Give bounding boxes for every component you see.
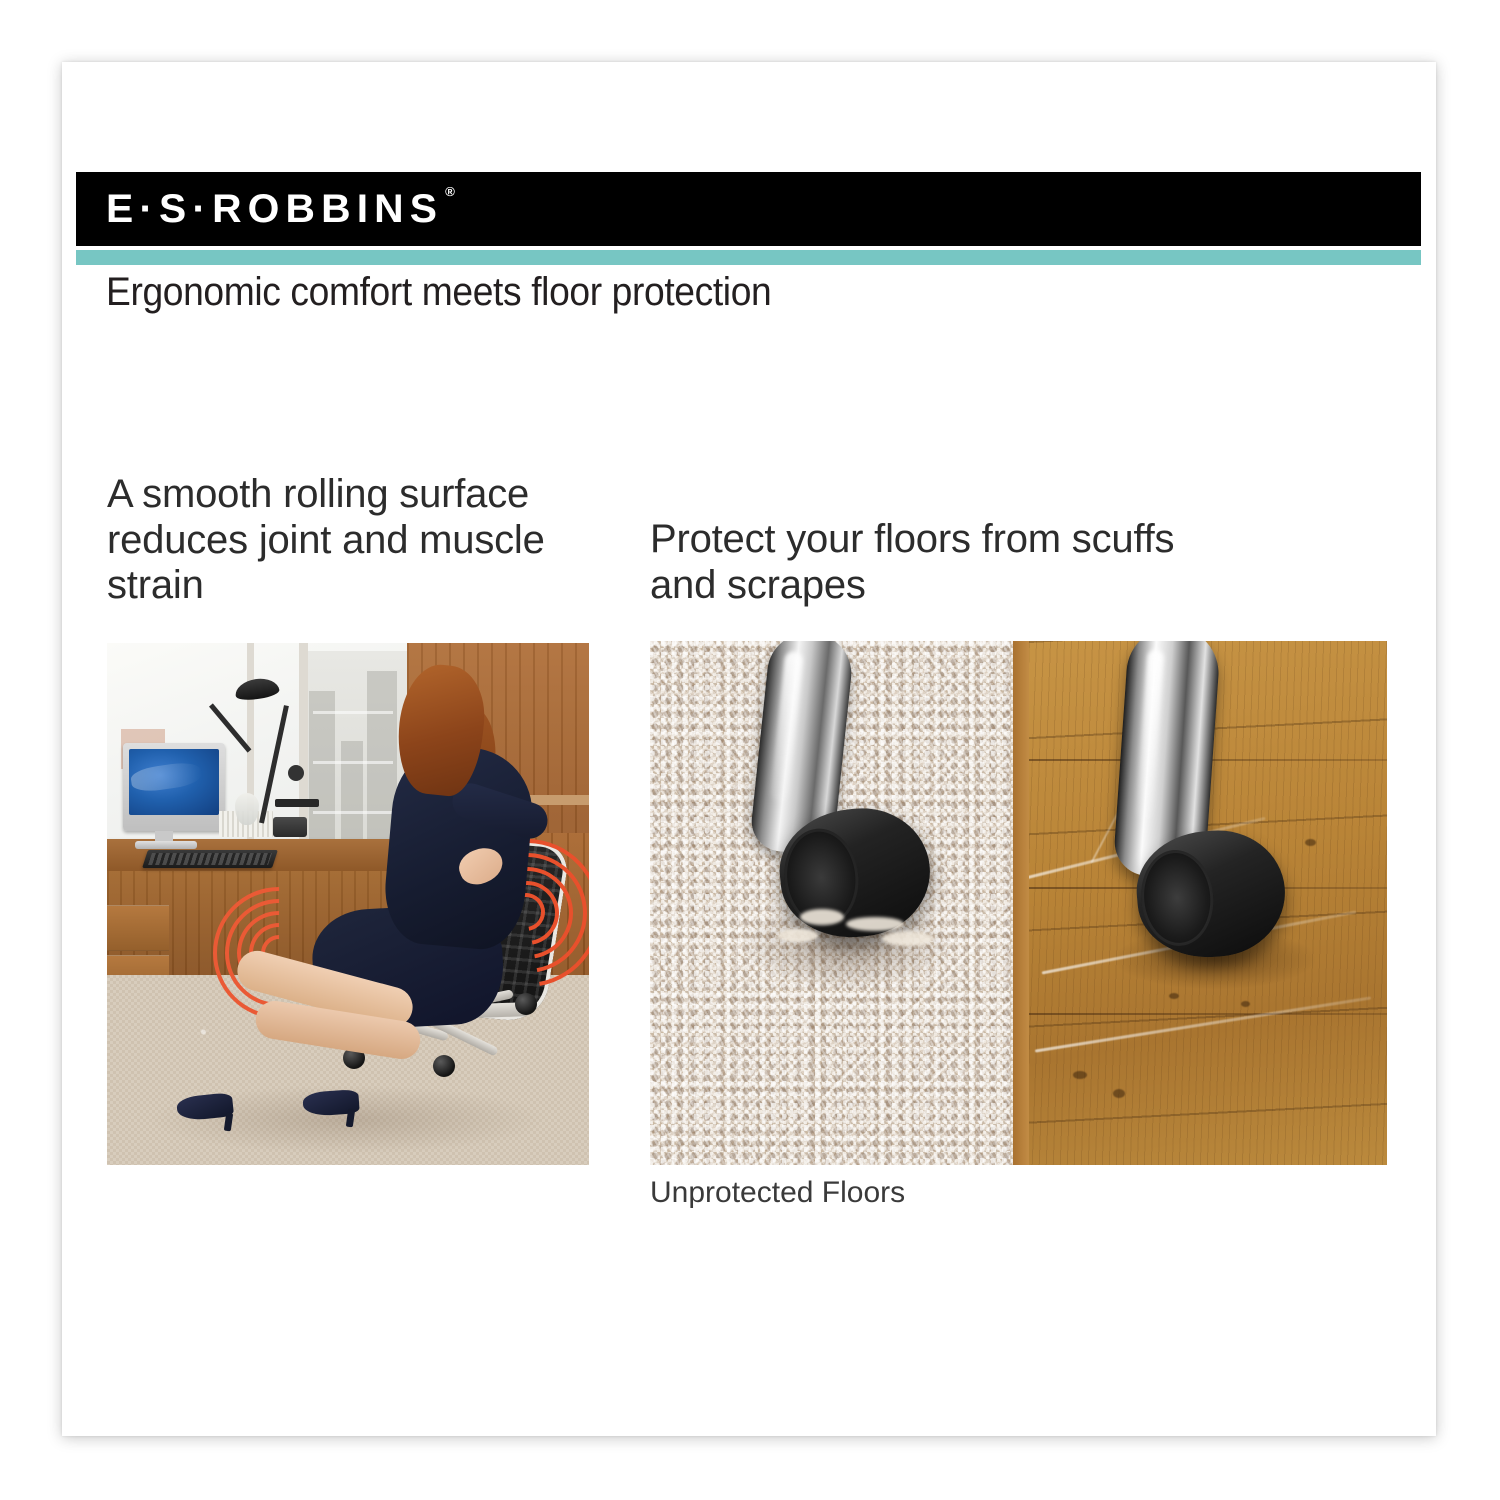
registered-trademark-icon: ®	[445, 184, 455, 199]
page-title: Ergonomic comfort meets floor protection	[106, 270, 1296, 315]
photo-caster-on-hardwood	[1029, 641, 1387, 1165]
desk-drawer	[107, 905, 169, 951]
chrome-highlight	[770, 651, 804, 802]
chrome-highlight	[1136, 649, 1164, 820]
computer-monitor	[123, 743, 225, 831]
keyboard	[142, 850, 278, 868]
brand-logo: E·S·ROBBINS®	[106, 189, 453, 229]
floor-edge-strip	[1013, 641, 1029, 1165]
photo-caster-on-carpet	[650, 641, 1029, 1165]
product-info-card: E·S·ROBBINS® Ergonomic comfort meets flo…	[62, 62, 1436, 1436]
photo-caption-unprotected-floors: Unprotected Floors	[650, 1176, 905, 1210]
monitor-base	[135, 841, 197, 849]
desk-lamp-base	[273, 817, 307, 837]
glass-vase	[235, 793, 259, 825]
brand-bar: E·S·ROBBINS®	[76, 172, 1421, 246]
feature-column-rolling-surface: A smooth rolling surface reduces joint a…	[107, 472, 607, 609]
feature-heading-floor-protection: Protect your floors from scuffs and scra…	[650, 517, 1190, 608]
brand-logo-text: E·S·ROBBINS	[106, 187, 443, 231]
accent-rule	[76, 250, 1421, 265]
feature-column-floor-protection: Protect your floors from scuffs and scra…	[650, 517, 1410, 608]
feature-heading-rolling-surface: A smooth rolling surface reduces joint a…	[107, 472, 577, 609]
photo-woman-at-desk	[107, 643, 589, 1165]
plank-seam	[1029, 1013, 1387, 1015]
photo-pair-unprotected-floors	[650, 641, 1387, 1165]
chair-caster	[433, 1055, 455, 1077]
desk-lamp-joint	[288, 765, 304, 781]
desk-lamp-crossbar	[275, 799, 319, 807]
marketing-page-canvas: E·S·ROBBINS® Ergonomic comfort meets flo…	[0, 0, 1500, 1500]
